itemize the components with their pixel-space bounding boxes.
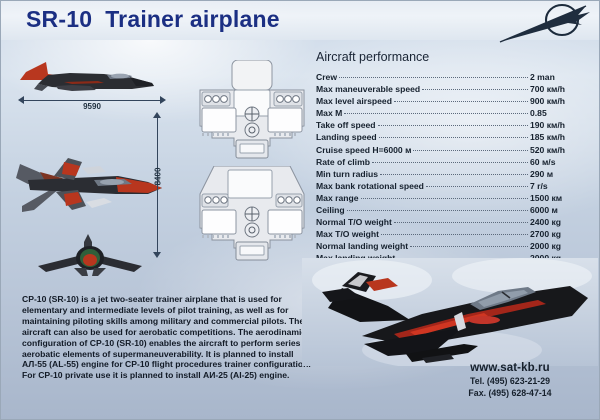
performance-value: 700 км/h — [530, 83, 592, 95]
performance-row: Landing speed185 км/h — [316, 131, 592, 143]
top-view-aircraft — [8, 132, 170, 228]
leader-dots — [410, 246, 528, 247]
performance-value: 2700 кg — [530, 228, 592, 240]
performance-row: Cruise speed H=6000 м520 км/h — [316, 144, 592, 156]
performance-label: Max range — [316, 192, 359, 204]
leader-dots — [361, 198, 528, 199]
dimension-arrow-bottom-icon — [153, 252, 161, 258]
performance-label: Max T/O weight — [316, 228, 379, 240]
sr-10-in-flight-photo — [302, 258, 598, 366]
performance-value: 185 км/h — [530, 131, 592, 143]
performance-row: Take off speed190 км/h — [316, 119, 592, 131]
contact-block: www.sat-kb.ru Tel. (495) 623-21-29 Fax. … — [430, 362, 590, 398]
performance-row: Max maneuverable speed700 км/h — [316, 83, 592, 95]
front-view-aircraft — [30, 230, 150, 290]
performance-label: Max M — [316, 107, 342, 119]
fax-number: Fax. (495) 628-47-14 — [430, 388, 590, 398]
page-title: SR-10Trainer airplane — [26, 6, 280, 33]
leader-dots — [344, 113, 528, 114]
performance-row: Normal landing weight2000 кg — [316, 240, 592, 252]
performance-label: Min turn radius — [316, 168, 378, 180]
performance-value: 2000 кg — [530, 240, 592, 252]
leader-dots — [347, 210, 528, 211]
page-title-text: Trainer airplane — [105, 6, 280, 32]
telephone-number: Tel. (495) 623-21-29 — [430, 376, 590, 386]
performance-value: 1500 км — [530, 192, 592, 204]
performance-value: 190 км/h — [530, 119, 592, 131]
leader-dots — [426, 186, 528, 187]
performance-value: 0.85 — [530, 107, 592, 119]
leader-dots — [379, 137, 528, 138]
model-designation: SR-10 — [26, 6, 92, 32]
performance-row: Normal T/O weight2400 кg — [316, 216, 592, 228]
front-cockpit-instrument-panel — [196, 60, 308, 162]
leader-dots — [413, 150, 528, 151]
aircraft-performance-table: Aircraft performance Crew2 manMax maneuv… — [316, 50, 592, 265]
performance-label: Max bank rotational speed — [316, 180, 424, 192]
performance-row: Max bank rotational speed7 r/s — [316, 180, 592, 192]
leader-dots — [381, 234, 528, 235]
performance-value: 2 man — [530, 71, 592, 83]
swept-arrow-circle-logo-icon — [498, 1, 594, 45]
performance-value: 290 м — [530, 168, 592, 180]
performance-label: Normal landing weight — [316, 240, 408, 252]
performance-value: 520 км/h — [530, 144, 592, 156]
leader-dots — [378, 125, 528, 126]
performance-rows: Crew2 manMax maneuverable speed700 км/hM… — [316, 71, 592, 265]
performance-label: Max level airspeed — [316, 95, 392, 107]
dimension-span: 8400 — [150, 112, 166, 258]
leader-dots — [339, 77, 528, 78]
dimension-span-label: 8400 — [154, 155, 163, 199]
performance-value: 6000 м — [530, 204, 592, 216]
performance-label: Max maneuverable speed — [316, 83, 420, 95]
performance-row: Crew2 man — [316, 71, 592, 83]
performance-value: 60 м/s — [530, 156, 592, 168]
performance-value: 900 км/h — [530, 95, 592, 107]
leader-dots — [422, 89, 528, 90]
leader-dots — [372, 162, 528, 163]
leader-dots — [394, 101, 528, 102]
performance-label: Landing speed — [316, 131, 377, 143]
description-block: CP-10 (SR-10) is a jet two-seater traine… — [22, 294, 314, 381]
performance-row: Max T/O weight2700 кg — [316, 228, 592, 240]
performance-label: Rate of climb — [316, 156, 370, 168]
leader-dots — [380, 174, 528, 175]
leader-dots — [394, 222, 528, 223]
performance-row: Max level airspeed900 км/h — [316, 95, 592, 107]
brochure-page: SR-10Trainer airplane — [0, 0, 600, 420]
performance-row: Max range1500 км — [316, 192, 592, 204]
website-link[interactable]: www.sat-kb.ru — [430, 362, 590, 374]
performance-row: Min turn radius290 м — [316, 168, 592, 180]
performance-row: Ceiling6000 м — [316, 204, 592, 216]
performance-label: Normal T/O weight — [316, 216, 392, 228]
performance-heading: Aircraft performance — [316, 50, 592, 64]
performance-row: Rate of climb60 м/s — [316, 156, 592, 168]
description-text: CP-10 (SR-10) is a jet two-seater traine… — [22, 294, 314, 381]
performance-label: Ceiling — [316, 204, 345, 216]
performance-label: Take off speed — [316, 119, 376, 131]
dimension-length: 9590 — [18, 95, 166, 111]
performance-label: Crew — [316, 71, 337, 83]
performance-row: Max M0.85 — [316, 107, 592, 119]
performance-value: 2400 кg — [530, 216, 592, 228]
performance-label: Cruise speed H=6000 м — [316, 144, 411, 156]
dimension-line — [23, 100, 161, 101]
dimension-length-label: 9590 — [18, 102, 166, 111]
rear-cockpit-instrument-panel — [196, 166, 308, 266]
performance-value: 7 r/s — [530, 180, 592, 192]
